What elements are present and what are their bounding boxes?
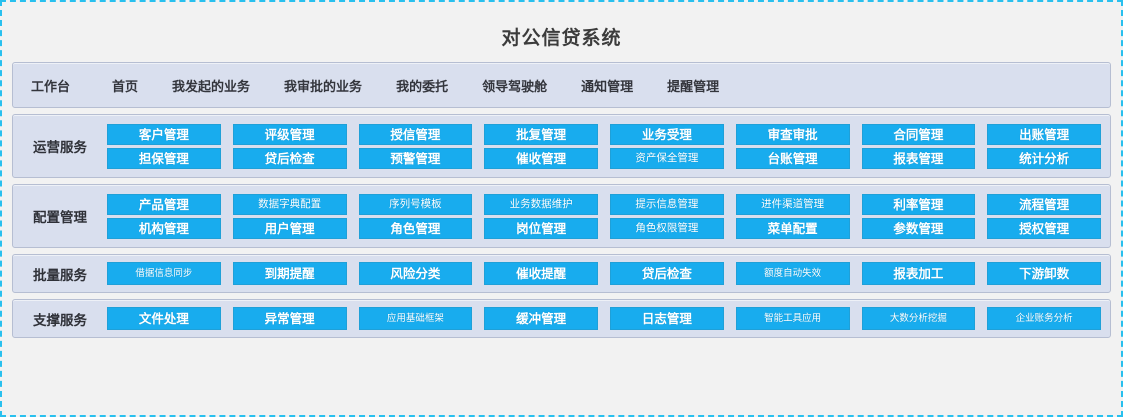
module-button[interactable]: 异常管理 bbox=[233, 307, 347, 330]
module-button[interactable]: 角色权限管理 bbox=[610, 218, 724, 239]
module-button[interactable]: 流程管理 bbox=[987, 194, 1101, 215]
nav-item-3[interactable]: 我审批的业务 bbox=[284, 76, 362, 95]
module-button[interactable]: 角色管理 bbox=[359, 218, 473, 239]
module-button[interactable]: 缓冲管理 bbox=[484, 307, 598, 330]
nav-item-6[interactable]: 通知管理 bbox=[581, 76, 633, 95]
module-button[interactable]: 合同管理 bbox=[862, 124, 976, 145]
module-button[interactable]: 提示信息管理 bbox=[610, 194, 724, 215]
section-button-grid-1: 产品管理数据字典配置序列号模板业务数据维护提示信息管理进件渠道管理利率管理流程管… bbox=[107, 194, 1101, 239]
nav-item-0[interactable]: 工作台 bbox=[31, 76, 70, 95]
title-bar: 对公信贷系统 bbox=[12, 10, 1111, 62]
section-panel-0: 运营服务客户管理评级管理授信管理批复管理业务受理审查审批合同管理出账管理担保管理… bbox=[12, 114, 1111, 178]
module-button[interactable]: 出账管理 bbox=[987, 124, 1101, 145]
section-label-2: 批量服务 bbox=[13, 264, 107, 284]
module-button[interactable]: 担保管理 bbox=[107, 148, 221, 169]
module-button[interactable]: 资产保全管理 bbox=[610, 148, 724, 169]
module-button[interactable]: 应用基础框架 bbox=[359, 307, 473, 330]
nav-item-2[interactable]: 我发起的业务 bbox=[172, 76, 250, 95]
nav-item-4[interactable]: 我的委托 bbox=[396, 76, 448, 95]
nav-item-7[interactable]: 提醒管理 bbox=[667, 76, 719, 95]
module-button[interactable]: 审查审批 bbox=[736, 124, 850, 145]
module-button[interactable]: 额度自动失效 bbox=[736, 262, 850, 285]
module-button[interactable]: 文件处理 bbox=[107, 307, 221, 330]
module-button[interactable]: 日志管理 bbox=[610, 307, 724, 330]
module-button[interactable]: 报表管理 bbox=[862, 148, 976, 169]
module-button[interactable]: 客户管理 bbox=[107, 124, 221, 145]
module-button[interactable]: 序列号模板 bbox=[359, 194, 473, 215]
section-label-0: 运营服务 bbox=[13, 136, 107, 156]
module-button[interactable]: 催收提醒 bbox=[484, 262, 598, 285]
module-button[interactable]: 参数管理 bbox=[862, 218, 976, 239]
module-button[interactable]: 批复管理 bbox=[484, 124, 598, 145]
section-label-3: 支撑服务 bbox=[13, 309, 107, 329]
module-button[interactable]: 大数分析挖掘 bbox=[862, 307, 976, 330]
section-panel-1: 配置管理产品管理数据字典配置序列号模板业务数据维护提示信息管理进件渠道管理利率管… bbox=[12, 184, 1111, 248]
module-button[interactable]: 产品管理 bbox=[107, 194, 221, 215]
section-button-grid-0: 客户管理评级管理授信管理批复管理业务受理审查审批合同管理出账管理担保管理贷后检查… bbox=[107, 124, 1101, 169]
section-button-grid-2: 借据信息同步到期提醒风险分类催收提醒贷后检查额度自动失效报表加工下游卸数 bbox=[107, 262, 1101, 285]
module-button[interactable]: 到期提醒 bbox=[233, 262, 347, 285]
module-button[interactable]: 用户管理 bbox=[233, 218, 347, 239]
module-button[interactable]: 预警管理 bbox=[359, 148, 473, 169]
module-button[interactable]: 岗位管理 bbox=[484, 218, 598, 239]
section-button-grid-3: 文件处理异常管理应用基础框架缓冲管理日志管理智能工具应用大数分析挖掘企业账务分析 bbox=[107, 307, 1101, 330]
section-panel-2: 批量服务借据信息同步到期提醒风险分类催收提醒贷后检查额度自动失效报表加工下游卸数 bbox=[12, 254, 1111, 293]
module-button[interactable]: 企业账务分析 bbox=[987, 307, 1101, 330]
module-button[interactable]: 催收管理 bbox=[484, 148, 598, 169]
module-button[interactable]: 下游卸数 bbox=[987, 262, 1101, 285]
main-navigation-bar: 工作台首页我发起的业务我审批的业务我的委托领导驾驶舱通知管理提醒管理 bbox=[12, 62, 1111, 108]
module-button[interactable]: 授信管理 bbox=[359, 124, 473, 145]
module-button[interactable]: 贷后检查 bbox=[233, 148, 347, 169]
module-button[interactable]: 进件渠道管理 bbox=[736, 194, 850, 215]
section-panel-3: 支撑服务文件处理异常管理应用基础框架缓冲管理日志管理智能工具应用大数分析挖掘企业… bbox=[12, 299, 1111, 338]
module-button[interactable]: 贷后检查 bbox=[610, 262, 724, 285]
application-window: 对公信贷系统 工作台首页我发起的业务我审批的业务我的委托领导驾驶舱通知管理提醒管… bbox=[0, 0, 1123, 417]
module-button[interactable]: 业务受理 bbox=[610, 124, 724, 145]
module-sections: 运营服务客户管理评级管理授信管理批复管理业务受理审查审批合同管理出账管理担保管理… bbox=[12, 114, 1111, 338]
module-button[interactable]: 报表加工 bbox=[862, 262, 976, 285]
module-button[interactable]: 菜单配置 bbox=[736, 218, 850, 239]
module-button[interactable]: 数据字典配置 bbox=[233, 194, 347, 215]
module-button[interactable]: 利率管理 bbox=[862, 194, 976, 215]
module-button[interactable]: 评级管理 bbox=[233, 124, 347, 145]
module-button[interactable]: 授权管理 bbox=[987, 218, 1101, 239]
module-button[interactable]: 机构管理 bbox=[107, 218, 221, 239]
module-button[interactable]: 风险分类 bbox=[359, 262, 473, 285]
module-button[interactable]: 台账管理 bbox=[736, 148, 850, 169]
module-button[interactable]: 借据信息同步 bbox=[107, 262, 221, 285]
module-button[interactable]: 智能工具应用 bbox=[736, 307, 850, 330]
section-label-1: 配置管理 bbox=[13, 206, 107, 226]
nav-item-5[interactable]: 领导驾驶舱 bbox=[482, 76, 547, 95]
page-title: 对公信贷系统 bbox=[501, 23, 621, 50]
module-button[interactable]: 业务数据维护 bbox=[484, 194, 598, 215]
nav-item-1[interactable]: 首页 bbox=[112, 76, 138, 95]
module-button[interactable]: 统计分析 bbox=[987, 148, 1101, 169]
